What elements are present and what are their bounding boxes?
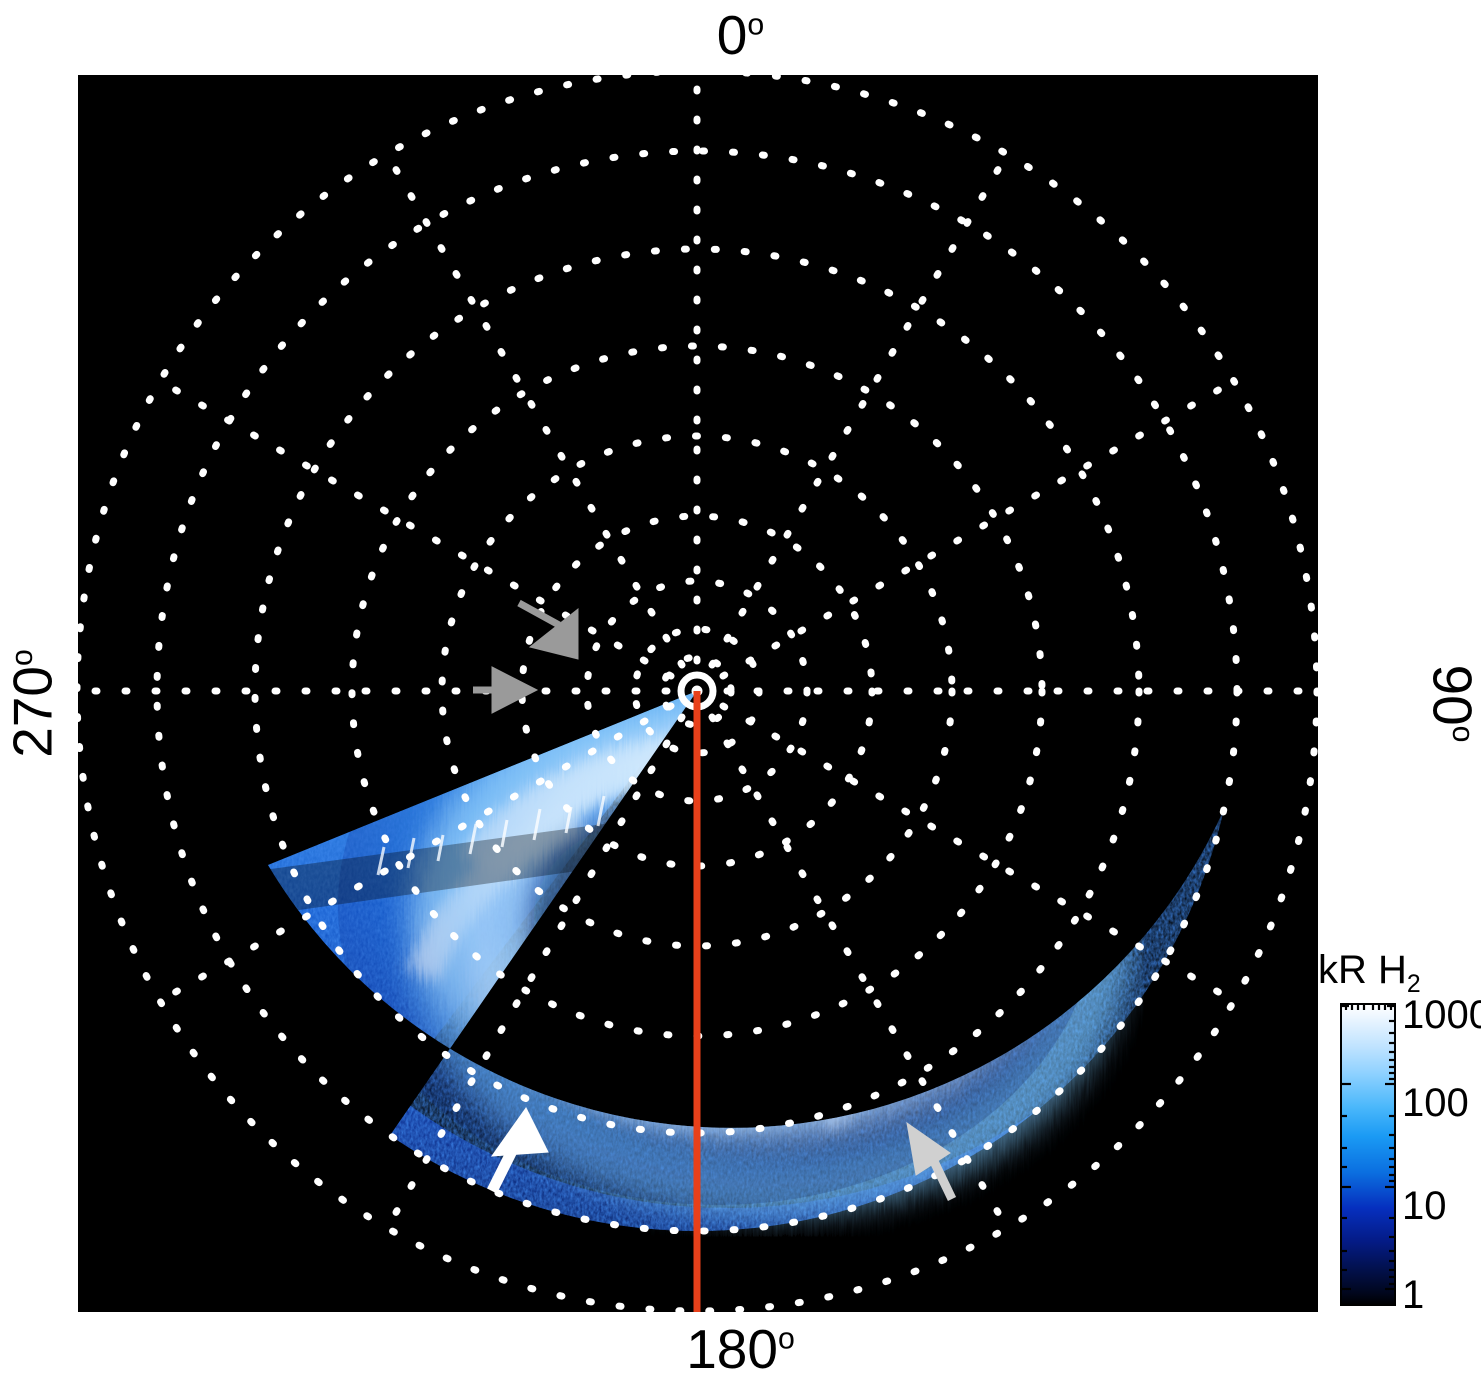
degree-symbol: o	[778, 1323, 795, 1356]
polar-plot-svg	[78, 75, 1318, 1312]
axis-label-180deg: 180o	[0, 1322, 1481, 1377]
colorbar-tick-1: 1	[1402, 1275, 1424, 1315]
axis-label-0deg: 0o	[0, 8, 1481, 63]
polar-plot-canvas	[78, 75, 1318, 1312]
colorbar-tick-1000: 1000	[1402, 995, 1481, 1035]
colorbar-tick-10: 10	[1402, 1186, 1447, 1226]
degree-symbol: o	[6, 649, 39, 666]
axis-label-270deg: 270o	[6, 624, 61, 784]
gray-arrow-upper-horizontal	[473, 667, 537, 713]
colorbar-title: kR H2	[1318, 948, 1421, 993]
lon-030	[697, 154, 1007, 691]
axis-label-90deg: 90o	[1425, 624, 1480, 784]
colorbar-ticks	[1340, 1003, 1396, 1306]
colorbar-tick-labels: 1000 100 10 1	[1402, 995, 1481, 1315]
lon-060	[697, 381, 1234, 691]
auroral-emission-layer	[198, 605, 1263, 1312]
colorbar: kR H2	[1318, 940, 1481, 1330]
auroral-polar-figure: 0o 180o 270o 90o kR H2	[0, 0, 1481, 1386]
degree-symbol: o	[747, 9, 764, 42]
aurora-glow	[338, 605, 1098, 1205]
gray-arrow-upper-diagonal	[519, 603, 578, 659]
degree-symbol: o	[1446, 726, 1479, 743]
lon-300	[160, 381, 697, 691]
colorbar-tick-100: 100	[1402, 1083, 1469, 1123]
